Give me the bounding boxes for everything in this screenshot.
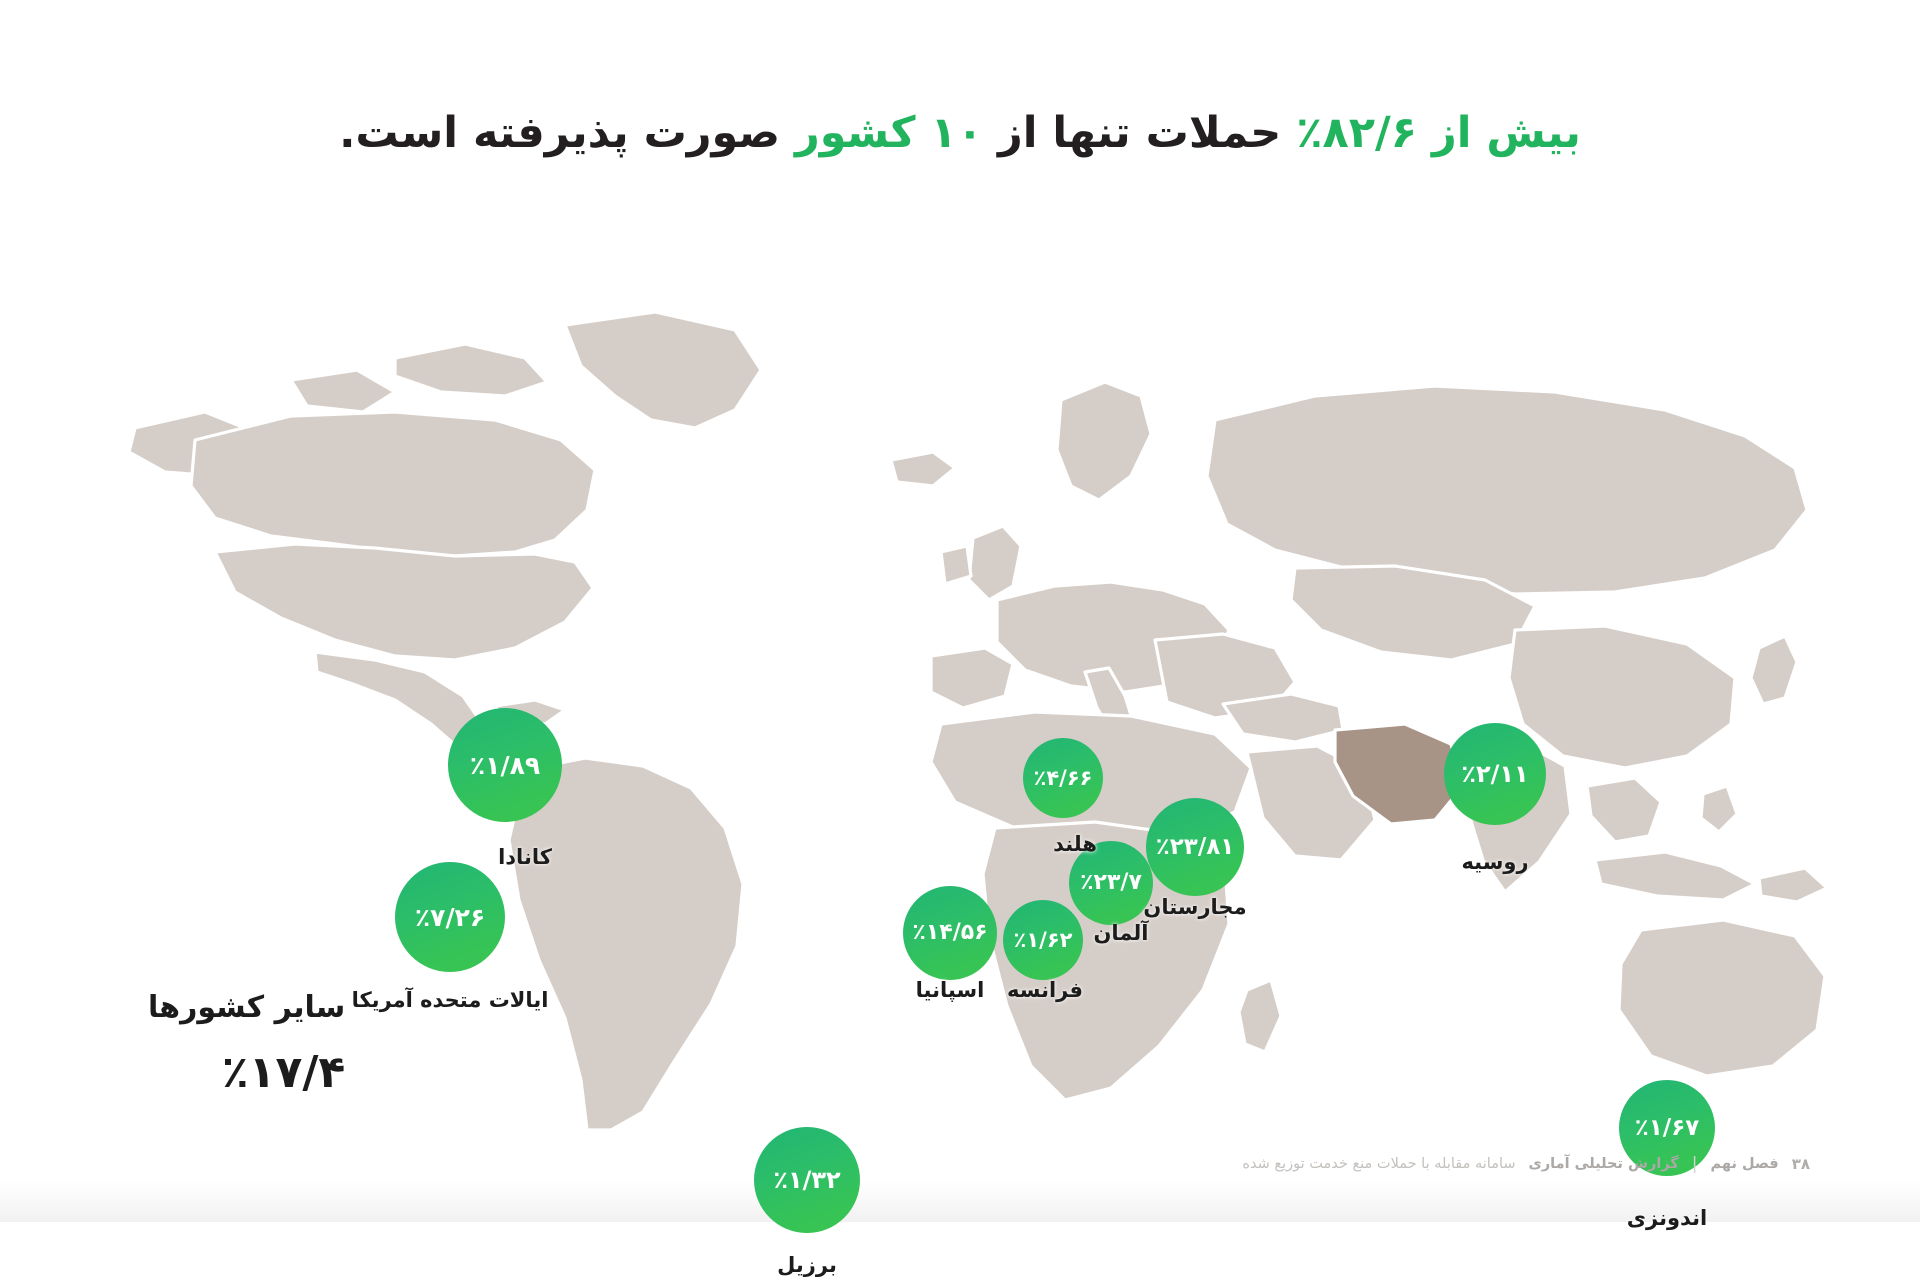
bubble-value-indonesia: ٪۱/۶۷ xyxy=(1635,1117,1700,1140)
country-label-indonesia: اندونزی xyxy=(1627,1206,1707,1230)
bubble-value-netherlands: ٪۴/۶۶ xyxy=(1034,768,1093,789)
title-segment-1: حملات تنها از xyxy=(983,108,1296,158)
country-label-text: کانادا xyxy=(498,845,552,869)
country-label-hungary: مجارستان xyxy=(1143,895,1246,919)
country-label-text: هلند xyxy=(1053,832,1097,856)
page-number: ۳۸ xyxy=(1792,1155,1810,1173)
title-segment-2: ۱۰ کشور xyxy=(795,108,983,158)
country-label-text: آلمان xyxy=(1094,921,1149,945)
country-label-text: برزیل xyxy=(777,1253,837,1277)
bubble-brazil[interactable]: ٪۱/۳۲ xyxy=(754,1127,860,1233)
country-label-brazil: برزیل xyxy=(777,1253,837,1277)
footer: ۳۸ فصل نهم | گزارش تحلیلی آماری سامانه م… xyxy=(1242,1154,1810,1174)
bubble-value-france: ٪۱/۶۲ xyxy=(1014,930,1073,951)
country-label-text: فرانسه xyxy=(1007,978,1083,1002)
page-title: بیش از ۸۲/۶٪ حملات تنها از ۱۰ کشور صورت … xyxy=(0,107,1920,161)
other-countries-value: ٪۱۷/۴ xyxy=(148,1047,345,1098)
bubble-usa[interactable]: ٪۷/۲۶ xyxy=(395,862,505,972)
country-label-usa: ایالات متحده آمریکا xyxy=(352,988,549,1012)
title-segment-0: بیش از ۸۲/۶٪ xyxy=(1296,108,1581,158)
bubble-value-brazil: ٪۱/۳۲ xyxy=(773,1168,840,1192)
country-label-spain: اسپانیا xyxy=(916,978,985,1002)
country-label-germany: آلمان xyxy=(1094,921,1149,945)
bubble-netherlands[interactable]: ٪۴/۶۶ xyxy=(1023,738,1103,818)
country-label-netherlands: هلند xyxy=(1053,832,1097,856)
footer-report-title: گزارش تحلیلی آماری xyxy=(1529,1156,1679,1172)
other-countries-block: سایر کشورها ٪۱۷/۴ xyxy=(148,990,345,1098)
bubble-canada[interactable]: ٪۱/۸۹ xyxy=(448,708,562,822)
country-label-text: روسیه xyxy=(1461,850,1528,874)
bubble-hungary[interactable]: ٪۲۳/۸۱ xyxy=(1146,798,1244,896)
bubble-russia[interactable]: ٪۲/۱۱ xyxy=(1444,723,1546,825)
country-label-canada: کانادا xyxy=(498,845,552,869)
country-label-text: اندونزی xyxy=(1627,1206,1707,1230)
footer-divider: | xyxy=(1692,1154,1698,1174)
bubble-value-hungary: ٪۲۳/۸۱ xyxy=(1156,836,1235,859)
bubble-value-spain: ٪۱۴/۵۶ xyxy=(912,922,987,944)
country-label-russia: روسیه xyxy=(1461,850,1528,874)
bubble-value-russia: ٪۲/۱۱ xyxy=(1461,762,1528,786)
world-bubble-map: ٪۱/۸۹ کانادا ٪۷/۲۶ ایالات متحده آمریکا ٪… xyxy=(95,300,1830,1130)
footer-chapter: فصل نهم xyxy=(1711,1156,1779,1172)
title-segment-3: صورت پذیرفته است. xyxy=(339,108,795,158)
slide-canvas: بیش از ۸۲/۶٪ حملات تنها از ۱۰ کشور صورت … xyxy=(0,0,1920,1222)
country-label-text: مجارستان xyxy=(1143,895,1246,919)
country-label-text: اسپانیا xyxy=(916,978,985,1002)
footer-report-subtitle: سامانه مقابله با حملات منع خدمت توزیع شد… xyxy=(1242,1156,1515,1172)
bubble-value-canada: ٪۱/۸۹ xyxy=(470,753,540,778)
country-label-france: فرانسه xyxy=(1007,978,1083,1002)
bubble-france[interactable]: ٪۱/۶۲ xyxy=(1003,900,1083,980)
other-countries-label: سایر کشورها xyxy=(148,990,345,1025)
country-label-text: ایالات متحده آمریکا xyxy=(352,988,549,1012)
bubble-spain[interactable]: ٪۱۴/۵۶ xyxy=(903,886,997,980)
bubble-value-usa: ٪۷/۲۶ xyxy=(415,905,485,930)
bubble-value-germany: ٪۲۳/۷ xyxy=(1080,872,1142,894)
